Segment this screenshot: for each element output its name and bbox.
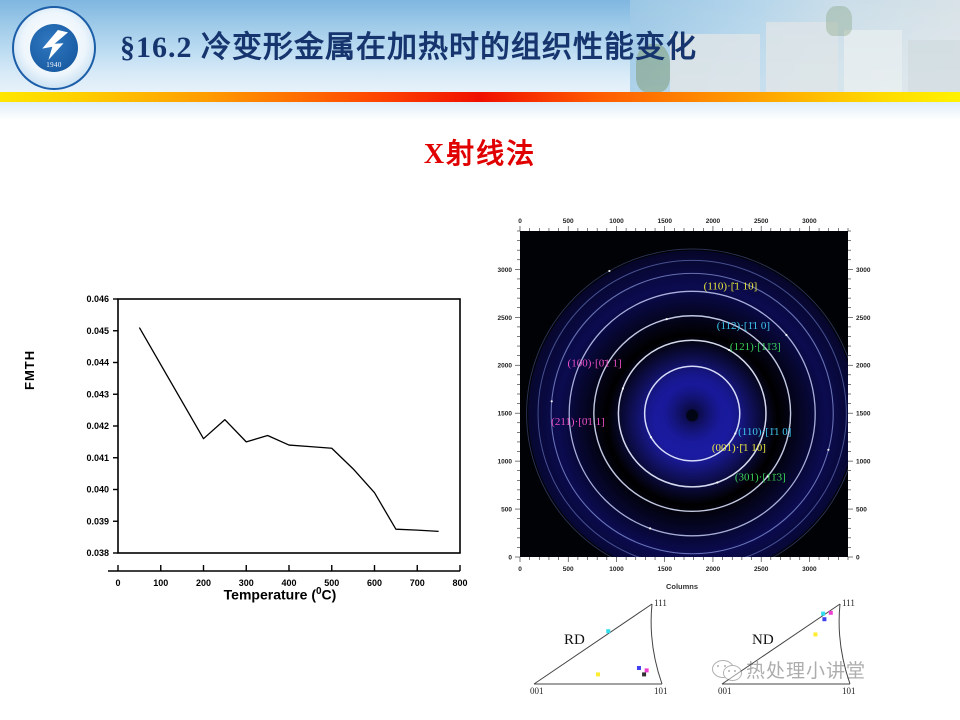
diffraction-annotation: (110)·[1̈1 0] <box>738 426 791 438</box>
diffraction-right-tick: 1000 <box>856 459 871 466</box>
watermark-text: 热处理小讲堂 <box>746 656 866 683</box>
triangle-label: RD <box>564 632 585 648</box>
diffraction-right-tick: 1500 <box>856 411 871 418</box>
diffraction-top-tick: 2500 <box>754 218 769 225</box>
logo-emblem: 1940 <box>30 24 78 72</box>
chart-data-line <box>139 328 438 532</box>
chart-y-tick: 0.044 <box>86 358 109 368</box>
diffraction-left-tick: 2500 <box>498 315 513 322</box>
diffraction-bottom-tick: 1000 <box>609 566 624 573</box>
triangle-data-point <box>642 672 646 676</box>
diffraction-annotation: (100)·[0̈1 1] <box>568 357 622 369</box>
chart-y-tick: 0.038 <box>86 548 109 558</box>
diffraction-left-tick: 1500 <box>498 411 513 418</box>
diffraction-annotation: (301)·[11̈3] <box>735 471 786 483</box>
chart-y-tick: 0.041 <box>86 453 109 463</box>
fmth-temperature-chart: 0.0380.0390.0400.0410.0420.0430.0440.045… <box>40 285 470 605</box>
wechat-icon <box>712 660 742 680</box>
section-subtitle: X射线法 <box>0 132 960 172</box>
page-title: §16.2 冷变形金属在加热时的组织性能变化 <box>120 22 920 66</box>
diffraction-right-tick: 0 <box>856 555 860 562</box>
chart-x-tick: 700 <box>410 578 425 588</box>
diffraction-top-tick: 3000 <box>802 218 817 225</box>
triangle-data-point <box>829 611 833 615</box>
diffraction-bottom-tick: 2500 <box>754 566 769 573</box>
triangle-corner-111: 111 <box>842 598 855 608</box>
triangle-label: ND <box>752 632 774 648</box>
chart-y-tick: 0.042 <box>86 421 109 431</box>
watermark: 热处理小讲堂 <box>712 656 866 683</box>
chart-x-axis-label: Temperature (0C) <box>150 586 410 603</box>
chart-y-tick: 0.043 <box>86 389 109 399</box>
chart-x-tick: 0 <box>115 578 120 588</box>
diffraction-bottom-tick: 3000 <box>802 566 817 573</box>
diffraction-top-tick: 1500 <box>657 218 672 225</box>
diffraction-left-tick: 0 <box>508 555 512 562</box>
diffraction-right-tick: 2000 <box>856 363 871 370</box>
chart-y-tick: 0.045 <box>86 326 109 336</box>
diffraction-top-tick: 2000 <box>706 218 721 225</box>
diffraction-annotation: (121)·[11̈3] <box>730 341 781 353</box>
logo-year: 1940 <box>46 61 62 69</box>
diffraction-left-tick: 2000 <box>498 363 513 370</box>
chart-x-tick: 800 <box>452 578 467 588</box>
diffraction-top-tick: 0 <box>518 218 522 225</box>
diffraction-right-tick: 3000 <box>856 267 871 274</box>
triangle-data-point <box>821 612 825 616</box>
diffraction-figure: 0050050050050010001000100010001500150015… <box>492 205 872 590</box>
logo-swoosh-icon <box>40 30 68 60</box>
triangle-corner-001: 001 <box>530 686 544 696</box>
university-logo: 1940 <box>12 6 96 90</box>
chart-canvas: 0.0380.0390.0400.0410.0420.0430.0440.045… <box>40 285 470 605</box>
triangle-corner-101: 101 <box>842 686 856 696</box>
x-label-main: Temperature ( <box>224 587 316 603</box>
ipf-triangle-nd: 001101111ND <box>700 592 885 702</box>
diffraction-bottom-tick: 2000 <box>706 566 721 573</box>
diffraction-right-tick: 500 <box>856 507 867 514</box>
triangle-data-point <box>596 672 600 676</box>
diffraction-x-axis-label: Columns <box>492 582 872 591</box>
triangle-data-point <box>813 632 817 636</box>
diffraction-annotation: (001)·[̈1 10] <box>712 442 766 454</box>
triangle-corner-101: 101 <box>654 686 668 696</box>
diffraction-top-tick: 1000 <box>609 218 624 225</box>
diffraction-left-tick: 3000 <box>498 267 513 274</box>
triangle-corner-111: 111 <box>654 598 667 608</box>
chart-y-axis-label: FMTH <box>22 350 37 390</box>
x-label-tail: C) <box>322 587 337 603</box>
chart-y-tick: 0.040 <box>86 485 109 495</box>
header-fade <box>0 102 960 120</box>
triangle-data-point <box>606 629 610 633</box>
diffraction-bottom-tick: 1500 <box>657 566 672 573</box>
chart-y-tick: 0.046 <box>86 294 109 304</box>
ipf-triangle-nd-canvas: 001101111ND <box>700 592 885 702</box>
ipf-triangle-rd: 001101111RD <box>512 592 697 702</box>
diffraction-annotation: (112)·[1̈1 0] <box>717 320 770 332</box>
triangle-data-point <box>645 668 649 672</box>
diffraction-bottom-tick: 0 <box>518 566 522 573</box>
diffraction-canvas: 0050050050050010001000100010001500150015… <box>492 205 872 590</box>
triangle-corner-001: 001 <box>718 686 732 696</box>
diffraction-right-tick: 2500 <box>856 315 871 322</box>
diffraction-annotation: (110)·[̈1 10] <box>704 281 758 293</box>
chart-y-tick: 0.039 <box>86 516 109 526</box>
diffraction-annotation: (211)·[0̈1 1] <box>551 416 605 428</box>
diffraction-left-tick: 1000 <box>498 459 513 466</box>
header-accent-bar <box>0 92 960 102</box>
diffraction-top-tick: 500 <box>563 218 574 225</box>
ipf-triangle-rd-canvas: 001101111RD <box>512 592 697 702</box>
triangle-data-point <box>637 666 641 670</box>
diffraction-left-tick: 500 <box>501 507 512 514</box>
diffraction-bottom-tick: 500 <box>563 566 574 573</box>
slide-header: 1940 §16.2 冷变形金属在加热时的组织性能变化 <box>0 0 960 92</box>
triangle-data-point <box>822 617 826 621</box>
